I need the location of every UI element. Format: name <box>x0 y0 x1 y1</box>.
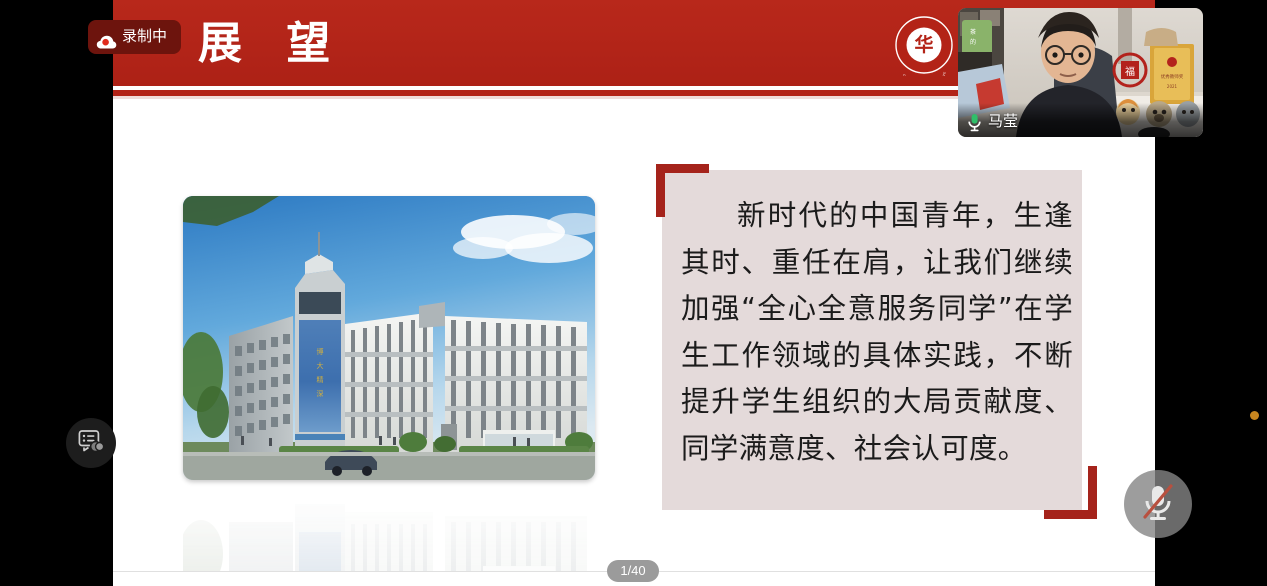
slide-image: 博 大 精 深 <box>183 196 595 480</box>
svg-text:博: 博 <box>317 347 324 356</box>
chat-button[interactable] <box>66 418 116 468</box>
microphone-muted-icon <box>1139 481 1177 528</box>
svg-text:华: 华 <box>914 33 933 56</box>
svg-text:福: 福 <box>1125 65 1135 78</box>
microphone-icon <box>966 112 983 132</box>
slide-image-reflection <box>183 484 595 584</box>
svg-text:2021: 2021 <box>1167 84 1178 89</box>
svg-text:的: 的 <box>970 38 976 46</box>
quote-text: 新时代的中国青年，生逢其时、重任在肩，让我们继续加强“全心全意服务同学”在学生工… <box>681 193 1073 472</box>
recording-cloud-icon <box>96 29 117 45</box>
mute-button[interactable] <box>1124 470 1192 538</box>
page-title: 展 望 <box>198 18 346 70</box>
svg-text:茶: 茶 <box>970 28 976 36</box>
svg-text:精: 精 <box>317 375 324 384</box>
svg-text:深: 深 <box>317 389 324 398</box>
university-seal-icon: 华 华中师范大学 CENTRAL CHINA NORMAL UNIVERSITY <box>893 14 955 76</box>
participant-name: 马莹 <box>988 112 1018 132</box>
svg-text:大: 大 <box>317 361 324 370</box>
meeting-app-root: 展 望 华 华中师范大学 CENTRAL CHINA NORMAL UNIVER… <box>0 0 1267 586</box>
university-building-photo: 博 大 精 深 <box>183 196 595 480</box>
chat-bubble-icon <box>78 429 104 458</box>
recording-status-badge[interactable]: 录制中 <box>88 20 181 54</box>
notification-dot[interactable] <box>1250 411 1259 420</box>
svg-text:优秀教师奖: 优秀教师奖 <box>1161 73 1184 80</box>
quote-corner-bottom-right <box>1044 466 1097 519</box>
participant-video-tile[interactable]: 茶 的 <box>958 8 1203 137</box>
slide-page-indicator[interactable]: 1/40 <box>607 560 659 582</box>
recording-label: 录制中 <box>122 28 167 45</box>
